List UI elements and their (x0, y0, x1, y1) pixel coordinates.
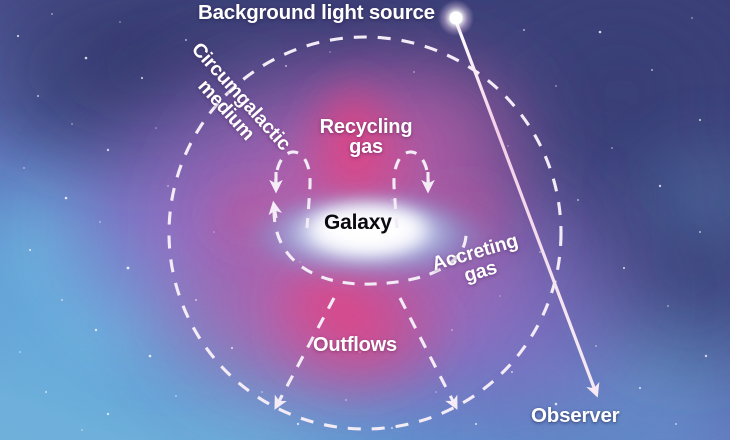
diagram-canvas: Background light source Circumgalacticme… (0, 0, 730, 440)
sightline-layer (0, 0, 730, 440)
sightline-beam (457, 24, 596, 393)
background-light-source-star (450, 12, 463, 25)
